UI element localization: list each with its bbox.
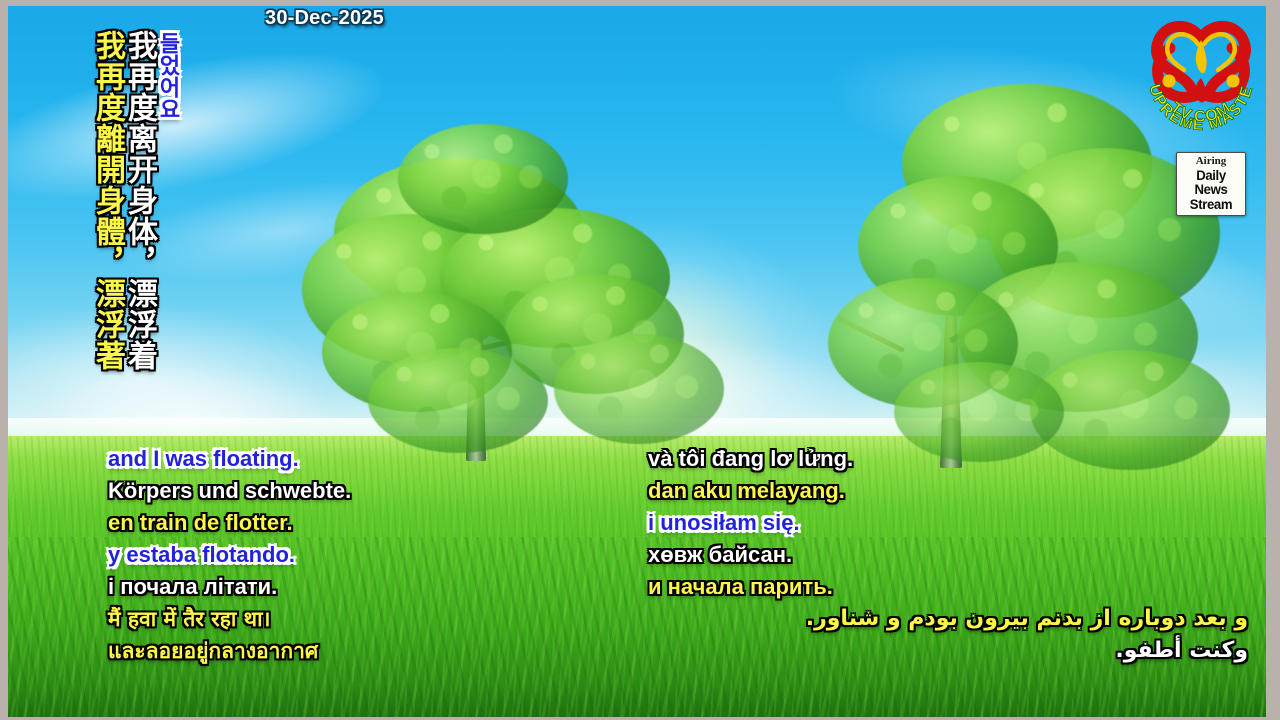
butterfly-emblem — [1157, 26, 1246, 102]
tree-canopy — [504, 274, 684, 394]
vertical-subtitle-block: 我再度離開身體，漂浮著 我再度离开身体，漂浮着 들었어요 — [92, 30, 178, 371]
subtitle-column-left: and I was floating. Körpers und schwebte… — [108, 443, 351, 667]
subtitle-line-de: Körpers und schwebte. — [108, 475, 351, 507]
airing-program-line1: Daily News — [1181, 168, 1241, 197]
tree-branch — [836, 316, 905, 353]
tree-canopy — [958, 262, 1198, 412]
tree-left — [308, 96, 748, 456]
cloud-decoration — [438, 336, 858, 456]
subtitle-line-hi: मैं हवा में तैर रहा था। — [108, 603, 351, 635]
tree-canopy — [302, 214, 512, 364]
broadcast-date: 30-Dec-2025 — [265, 7, 384, 30]
tree-canopy — [554, 334, 724, 444]
airing-status-badge: Airing Daily News Stream — [1176, 152, 1246, 216]
tree-branch — [472, 258, 555, 317]
subtitle-line-id: dan aku melayang. — [648, 475, 1248, 507]
tree-branch — [366, 283, 429, 322]
subtitle-line-vi: và tôi đang lơ lửng. — [648, 443, 1248, 475]
subtitle-line-es: y estaba flotando. — [108, 539, 351, 571]
subtitle-line-ar: وكنت أطفو. — [648, 635, 1248, 667]
vertical-subtitle-zh-hans: 我再度离开身体，漂浮着 — [124, 30, 154, 371]
tree-branch — [479, 319, 607, 351]
tree-branch — [337, 337, 420, 358]
vertical-subtitle-zh-hant: 我再度離開身體，漂浮著 — [92, 30, 122, 371]
tree-canopy — [322, 292, 512, 412]
tree-canopy — [440, 208, 670, 348]
tree-canopy — [902, 84, 1152, 244]
subtitle-line-th: และลอยอยู่กลางอากาศ — [108, 635, 351, 667]
subtitle-line-ru: и начала парить. — [648, 571, 1248, 603]
tree-branch — [949, 290, 1044, 344]
subtitle-line-fa: و بعد دوباره از بدنم بیرون بودم و شناور. — [648, 603, 1248, 635]
subtitle-line-en: and I was floating. — [108, 443, 351, 475]
channel-logo: SUPREME MASTER TV.COM — [1142, 14, 1260, 132]
tree-canopy — [334, 158, 584, 308]
tree-trunk — [466, 286, 486, 461]
subtitle-column-right: và tôi đang lơ lửng. dan aku melayang. i… — [648, 443, 1248, 667]
tree-canopy — [398, 124, 568, 234]
cloud-decoration — [8, 24, 396, 229]
subtitle-line-mn: хөвж байсан. — [648, 539, 1248, 571]
tree-canopy — [828, 278, 1018, 408]
vertical-subtitle-ko: 들었어요 — [156, 32, 178, 120]
subtitle-line-pl: i unosiłam się. — [648, 507, 1248, 539]
subtitle-line-uk: і почала літати. — [108, 571, 351, 603]
airing-program-line2: Stream — [1181, 197, 1241, 212]
subtitle-line-fr: en train de flotter. — [108, 507, 351, 539]
tree-canopy — [858, 176, 1058, 316]
video-frame: 30-Dec-2025 我再度離開身體，漂浮著 我再度离开身体，漂浮着 들었어요… — [0, 0, 1280, 720]
tree-canopy — [368, 348, 548, 453]
